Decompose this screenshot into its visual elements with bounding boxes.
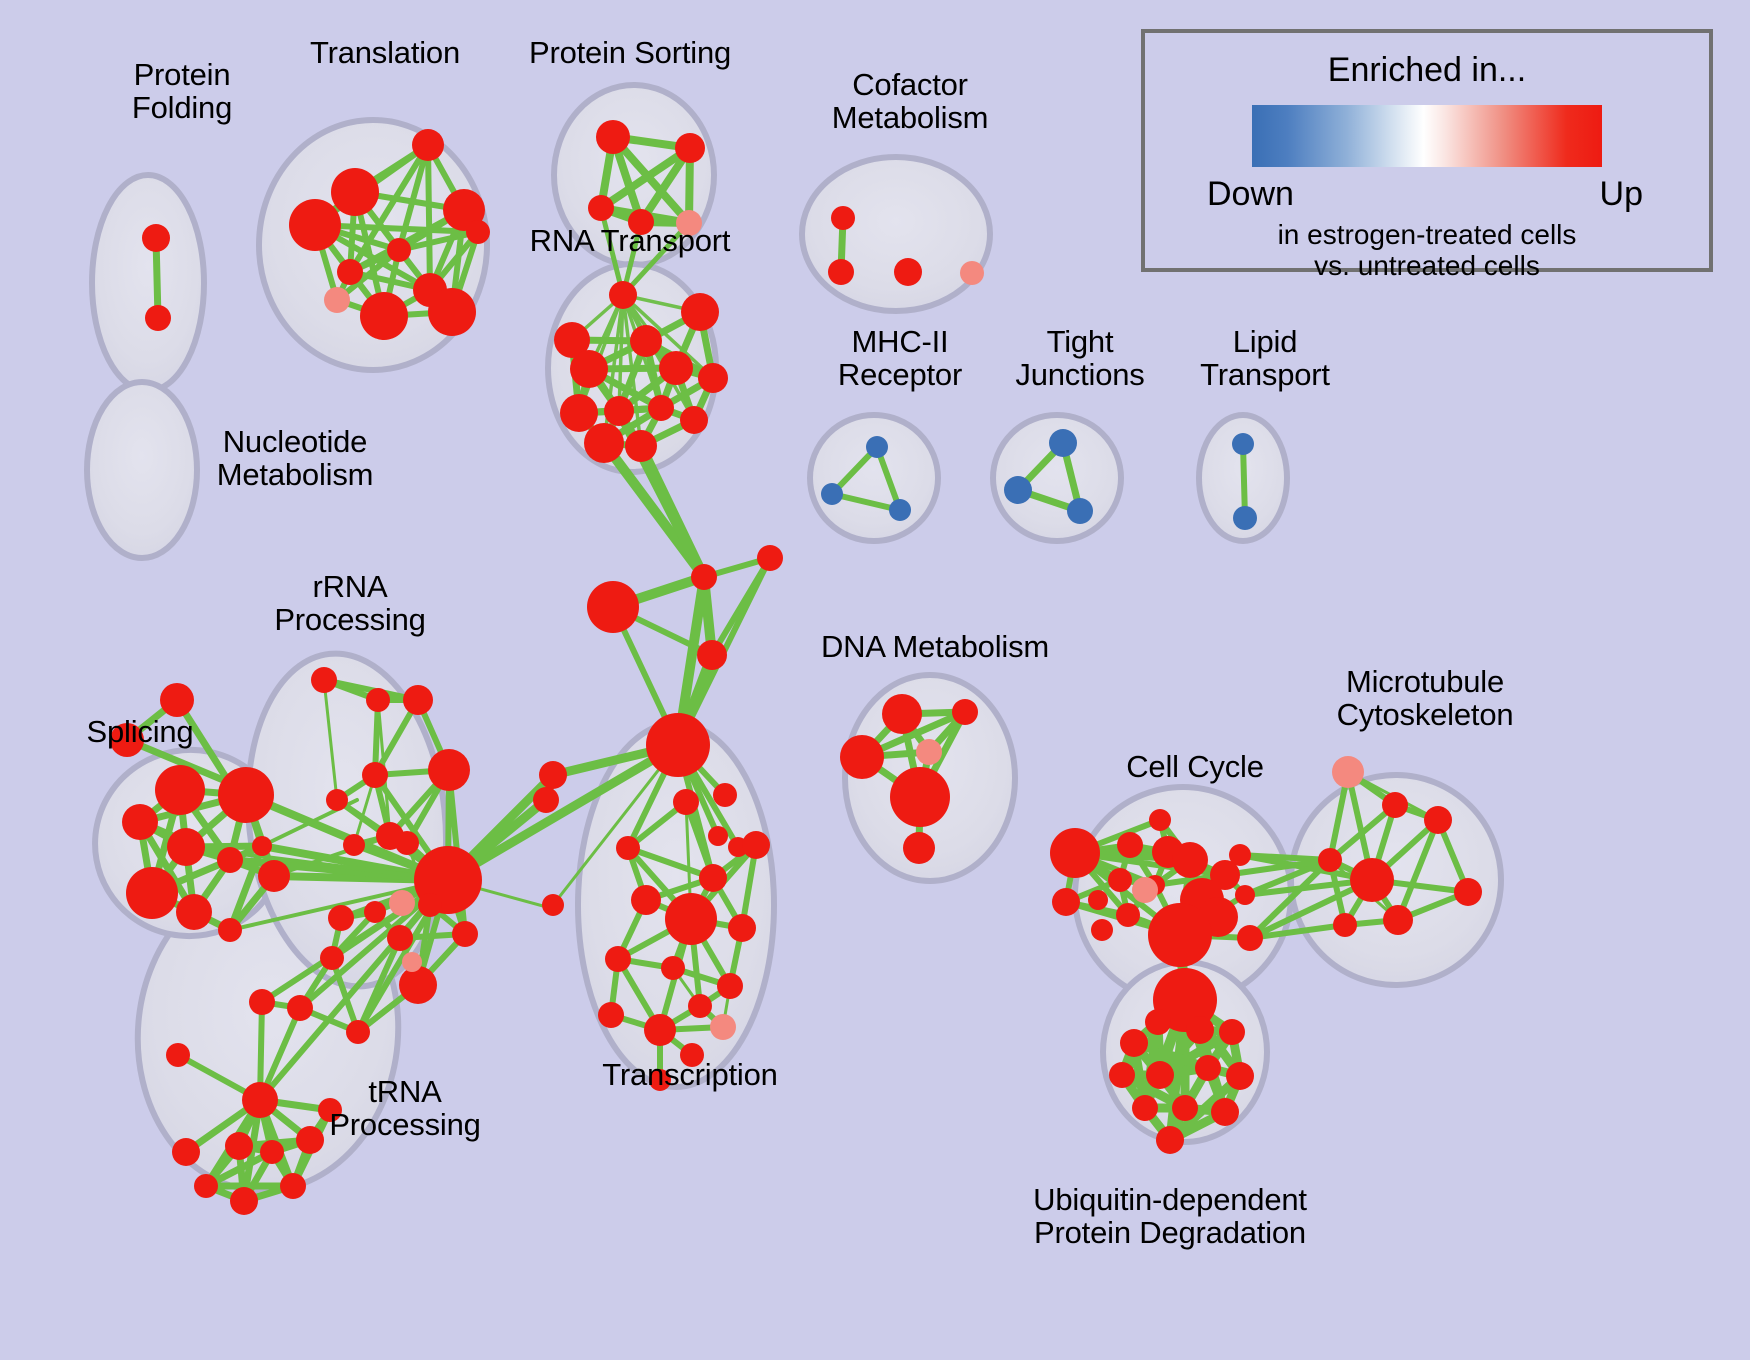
node xyxy=(218,767,274,823)
node xyxy=(287,995,313,1021)
node xyxy=(598,1002,624,1028)
node xyxy=(142,224,170,252)
node xyxy=(1237,925,1263,951)
node xyxy=(337,259,363,285)
node xyxy=(840,735,884,779)
node xyxy=(717,973,743,999)
node xyxy=(1233,506,1257,530)
node xyxy=(894,258,922,286)
node xyxy=(366,688,390,712)
node xyxy=(1211,1098,1239,1126)
node xyxy=(1116,903,1140,927)
node xyxy=(389,890,415,916)
node xyxy=(533,787,559,813)
node xyxy=(570,350,608,388)
node xyxy=(659,351,693,385)
node xyxy=(1172,842,1208,878)
cluster-hull-mhc-ii-receptor xyxy=(810,415,938,541)
cluster-hull-cofactor-metabolism xyxy=(802,157,990,311)
node xyxy=(1235,885,1255,905)
cluster-hull-nucleotide-metabolism xyxy=(87,382,197,558)
node xyxy=(428,749,470,791)
node xyxy=(1186,1016,1214,1044)
node xyxy=(428,288,476,336)
node xyxy=(1132,877,1158,903)
node xyxy=(542,894,564,916)
node xyxy=(1149,809,1171,831)
node xyxy=(828,259,854,285)
node xyxy=(710,1014,736,1040)
node xyxy=(249,989,275,1015)
node xyxy=(742,831,770,859)
node xyxy=(1195,1055,1221,1081)
node xyxy=(831,206,855,230)
node xyxy=(145,305,171,331)
node xyxy=(708,826,728,846)
node xyxy=(630,325,662,357)
node xyxy=(584,423,624,463)
node xyxy=(225,1132,253,1160)
node xyxy=(1172,1095,1198,1121)
node xyxy=(110,723,144,757)
node xyxy=(318,1098,342,1122)
node xyxy=(1050,828,1100,878)
node xyxy=(320,946,344,970)
node xyxy=(326,789,348,811)
node xyxy=(628,209,654,235)
node xyxy=(160,683,194,717)
node xyxy=(631,885,661,915)
node xyxy=(176,894,212,930)
node xyxy=(364,901,386,923)
node xyxy=(1132,1095,1158,1121)
legend-color-bar xyxy=(1252,105,1602,167)
node xyxy=(681,293,719,331)
node xyxy=(258,860,290,892)
node xyxy=(698,363,728,393)
node xyxy=(644,1014,676,1046)
node xyxy=(324,287,350,313)
node xyxy=(1067,498,1093,524)
node xyxy=(403,685,433,715)
node xyxy=(960,261,984,285)
node xyxy=(646,713,710,777)
legend-up-label: Up xyxy=(1600,175,1643,214)
node xyxy=(625,430,657,462)
node xyxy=(560,394,598,432)
node xyxy=(387,238,411,262)
node xyxy=(1332,756,1364,788)
node xyxy=(604,396,634,426)
node xyxy=(605,946,631,972)
node xyxy=(882,694,922,734)
node xyxy=(1148,903,1212,967)
node xyxy=(821,483,843,505)
node xyxy=(916,739,942,765)
node xyxy=(218,918,242,942)
node xyxy=(1156,1126,1184,1154)
node xyxy=(452,921,478,947)
node xyxy=(1226,1062,1254,1090)
node xyxy=(418,893,442,917)
node xyxy=(609,281,637,309)
node xyxy=(122,804,158,840)
enrichment-network-figure: Protein Folding Translation Protein Sort… xyxy=(0,0,1750,1360)
cluster-hull-protein-folding xyxy=(92,175,204,391)
node xyxy=(362,762,388,788)
node xyxy=(242,1082,278,1118)
node xyxy=(903,832,935,864)
node xyxy=(1145,1009,1171,1035)
node xyxy=(680,406,708,434)
node xyxy=(1108,868,1132,892)
node xyxy=(1350,858,1394,902)
node xyxy=(1424,806,1452,834)
node xyxy=(648,395,674,421)
node xyxy=(217,847,243,873)
node xyxy=(539,761,567,789)
node xyxy=(166,1043,190,1067)
node xyxy=(1004,476,1032,504)
node xyxy=(1333,913,1357,937)
node xyxy=(1229,844,1251,866)
node xyxy=(952,699,978,725)
node xyxy=(1383,905,1413,935)
node xyxy=(691,564,717,590)
node xyxy=(328,905,354,931)
node xyxy=(402,952,422,972)
node xyxy=(866,436,888,458)
node xyxy=(289,199,341,251)
node xyxy=(280,1173,306,1199)
node xyxy=(1109,1062,1135,1088)
node xyxy=(1049,429,1077,457)
node xyxy=(728,914,756,942)
node xyxy=(360,292,408,340)
node xyxy=(399,966,437,1004)
node xyxy=(673,789,699,815)
node xyxy=(155,765,205,815)
node xyxy=(680,1043,704,1067)
legend-panel: Enriched in... Down Up in estrogen-treat… xyxy=(1141,29,1713,272)
node xyxy=(665,893,717,945)
node xyxy=(688,994,712,1018)
node xyxy=(1120,1029,1148,1057)
node xyxy=(1382,792,1408,818)
node xyxy=(713,783,737,807)
node xyxy=(126,867,178,919)
node xyxy=(387,925,413,951)
node xyxy=(343,834,365,856)
node xyxy=(167,828,205,866)
node xyxy=(331,168,379,216)
legend-subtitle: in estrogen-treated cells vs. untreated … xyxy=(1145,219,1709,282)
node xyxy=(588,195,614,221)
node xyxy=(661,956,685,980)
node xyxy=(587,581,639,633)
node xyxy=(466,220,490,244)
node xyxy=(649,1069,671,1091)
node xyxy=(1219,1019,1245,1045)
legend-title: Enriched in... xyxy=(1145,51,1709,90)
node xyxy=(1318,848,1342,872)
node xyxy=(296,1126,324,1154)
node xyxy=(260,1140,284,1164)
node xyxy=(890,767,950,827)
node xyxy=(230,1187,258,1215)
node xyxy=(1117,832,1143,858)
node xyxy=(1454,878,1482,906)
node xyxy=(1146,1061,1174,1089)
node xyxy=(757,545,783,571)
node xyxy=(697,640,727,670)
node xyxy=(194,1174,218,1198)
legend-down-label: Down xyxy=(1207,175,1294,214)
node xyxy=(412,129,444,161)
node xyxy=(346,1020,370,1044)
node xyxy=(311,667,337,693)
node xyxy=(172,1138,200,1166)
node xyxy=(889,499,911,521)
node xyxy=(395,831,419,855)
node xyxy=(1088,890,1108,910)
node xyxy=(1052,888,1080,916)
node xyxy=(1091,919,1113,941)
node xyxy=(596,120,630,154)
node xyxy=(699,864,727,892)
node xyxy=(1232,433,1254,455)
node xyxy=(676,210,702,236)
node xyxy=(675,133,705,163)
node xyxy=(252,836,272,856)
node xyxy=(616,836,640,860)
